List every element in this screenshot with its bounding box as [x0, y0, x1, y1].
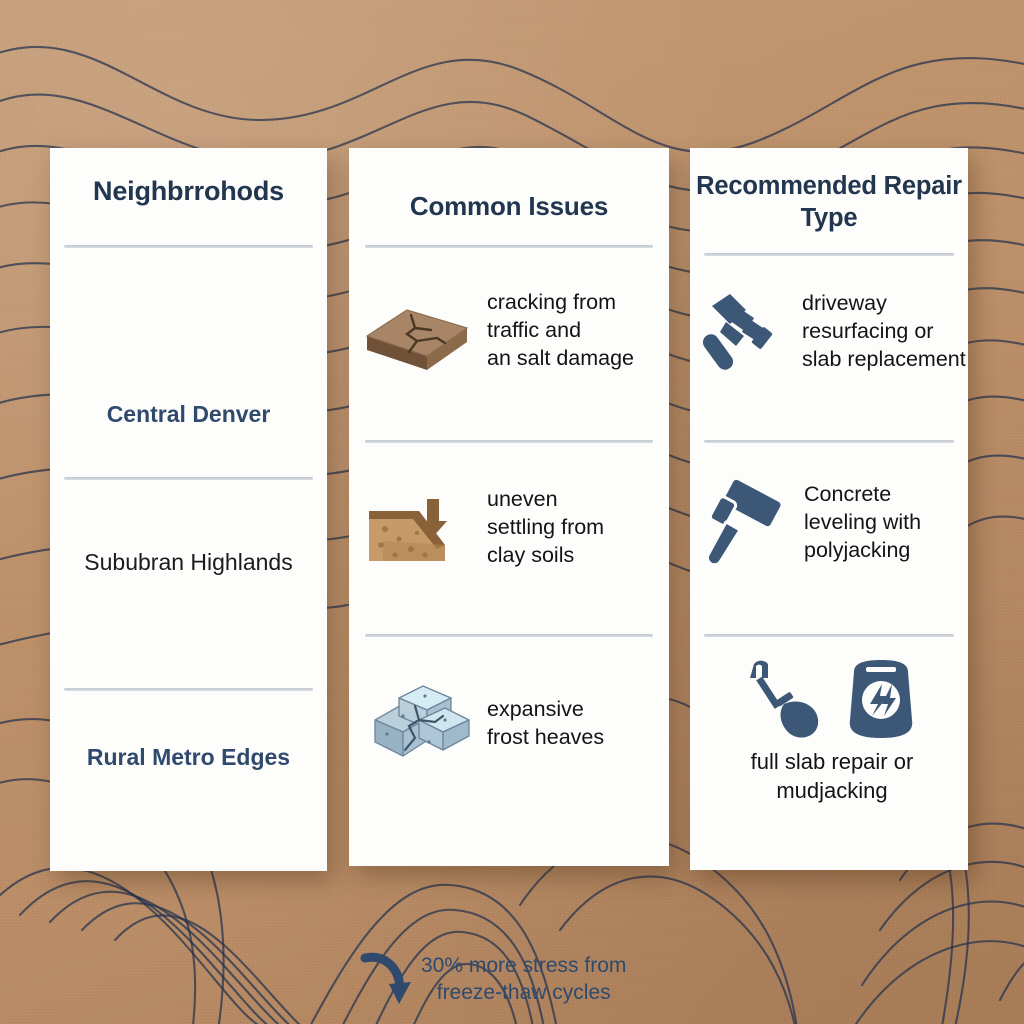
issue-row-3-text: expansive frost heaves	[487, 696, 604, 752]
repair-row-3-text: full slab repair or mudjacking	[751, 748, 914, 805]
neighborhood-row-2: Sububran Highlands	[56, 548, 321, 577]
repair-row-2-text: Concrete leveling with polyjacking	[804, 481, 921, 565]
row-divider-1	[64, 477, 313, 480]
ice-blocks-icon	[359, 676, 475, 772]
footnote-text: 30% more stress from freeze-thaw cycles	[421, 952, 626, 1007]
neighborhood-row-3: Rural Metro Edges	[56, 743, 321, 772]
soil-settling-icon	[359, 483, 475, 573]
issue-row-1: cracking from traffic and an salt damage	[359, 288, 664, 374]
header-divider	[704, 253, 954, 256]
repair-row-3: full slab repair or mudjacking	[708, 656, 956, 805]
repair-row-1: driveway resurfacing or slab replacement	[696, 288, 996, 376]
row-divider-2	[704, 634, 954, 637]
row-divider-2	[365, 634, 653, 637]
column-common-issues: Common Issues cracking from traffic and …	[349, 148, 669, 866]
sledgehammer-icon	[696, 288, 790, 376]
column-header-common-issues: Common Issues	[349, 190, 669, 223]
row-divider-2	[64, 688, 313, 691]
header-divider	[365, 245, 653, 248]
repair-row-2: Concrete leveling with polyjacking	[696, 478, 996, 568]
row-divider-1	[365, 440, 653, 443]
column-neighborhoods: Neighbrrohods Central Denver Sububran Hi…	[50, 148, 327, 871]
repair-row-1-text: driveway resurfacing or slab replacement	[802, 290, 966, 374]
issue-row-2: uneven settling from clay soils	[359, 483, 664, 573]
paint-roller-icon	[696, 478, 792, 568]
cracked-concrete-slab-icon	[359, 288, 475, 374]
neighborhood-row-1: Central Denver	[56, 400, 321, 429]
column-header-neighborhoods: Neighbrrohods	[50, 174, 327, 208]
shovel-icon	[740, 656, 828, 742]
column-recommended-repair-type: Recommended Repair Type driveway resurfa…	[690, 148, 968, 870]
issue-row-3: expansive frost heaves	[359, 676, 664, 772]
curved-arrow-icon	[359, 948, 415, 1010]
footnote-freeze-thaw: 30% more stress from freeze-thaw cycles	[359, 948, 664, 1010]
repair-row-3-icons	[740, 656, 924, 742]
cement-bag-icon	[838, 656, 924, 742]
row-divider-1	[704, 440, 954, 443]
header-divider	[64, 245, 313, 248]
column-header-recommended-repair-type: Recommended Repair Type	[690, 170, 968, 234]
issue-row-1-text: cracking from traffic and an salt damage	[487, 289, 634, 373]
issue-row-2-text: uneven settling from clay soils	[487, 486, 604, 570]
